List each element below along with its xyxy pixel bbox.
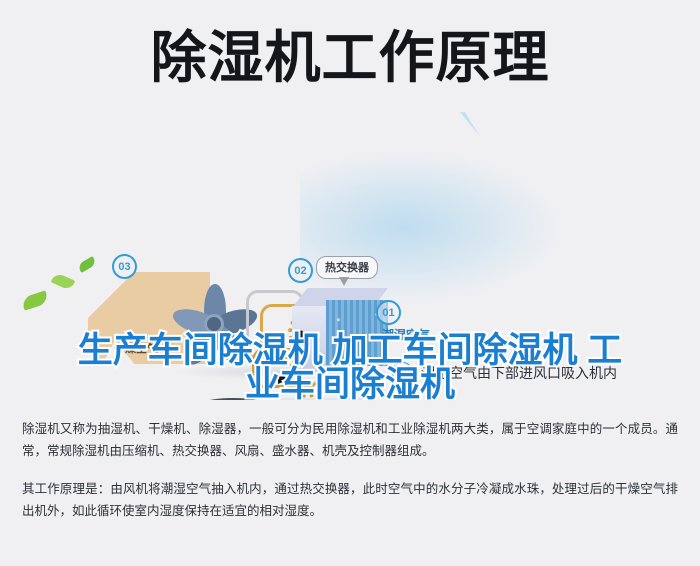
title-band: 除湿机工作原理 [0, 0, 700, 118]
leaf-icon [21, 290, 50, 310]
diagram-marker-02: 02 [288, 258, 313, 283]
dehumidifier-infographic: 除湿机工作原理 干燥空气 热交换器 [0, 0, 700, 566]
paragraph-definition: 除湿机又称为抽湿机、干燥机、除湿器，一般可分为民用除湿机和工业除湿机两大类，属于… [22, 418, 678, 462]
diagram-marker-03: 03 [112, 254, 137, 279]
leaf-icon [51, 272, 76, 291]
page-title: 除湿机工作原理 [0, 26, 700, 90]
paragraph-principle: 其工作原理是：由风机将潮湿空气抽入机内，通过热交换器，此时空气中的水分子冷凝成水… [22, 478, 678, 522]
body-copy: 除湿机又称为抽湿机、干燥机、除湿器，一般可分为民用除湿机和工业除湿机两大类，属于… [0, 404, 700, 566]
overlay-watermark-text: 生产车间除湿机 加工车间除湿机 工业车间除湿机 [70, 334, 630, 400]
diagram-marker-01: 01 [376, 300, 401, 325]
diagram-stage: 干燥空气 热交换器 水箱 03 02 01 潮湿空气 [0, 112, 700, 400]
leaf-icon [77, 256, 97, 273]
heat-exchanger-callout: 热交换器 [316, 256, 378, 279]
